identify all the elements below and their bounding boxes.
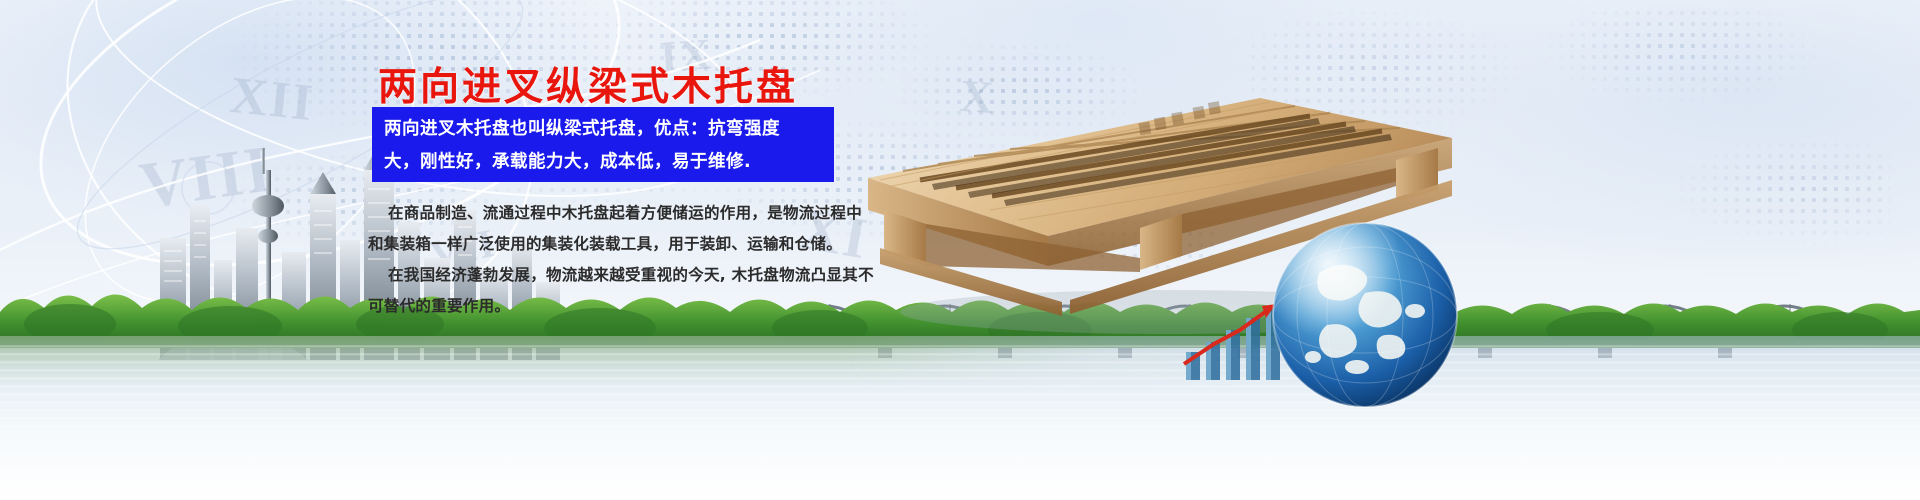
body-paragraph: 在商品制造、流通过程中木托盘起着方便储运的作用，是物流过程中 和集装箱一样广泛使… [368, 198, 848, 322]
highlight-line-1: 两向进叉木托盘也叫纵梁式托盘，优点：抗弯强度 [384, 113, 824, 146]
rising-bar-chart-with-arrow [1180, 300, 1300, 380]
highlight-line-2: 大，刚性好，承载能力大，成本低，易于维修. [384, 146, 824, 179]
body-line-2: 和集装箱一样广泛使用的集装化装载工具，用于装卸、运输和仓储。 [368, 229, 848, 260]
green-tree-band [0, 278, 1920, 348]
blue-earth-globe [1265, 215, 1465, 415]
arch-bridge-silhouette [760, 250, 1920, 360]
decorative-arc-lines [0, 0, 1920, 360]
water-reflection-band [0, 336, 1920, 500]
dot-matrix-texture-right [1250, 10, 1890, 310]
sky-gradient-glow [0, 0, 1920, 330]
water-green-tint [0, 336, 1920, 388]
body-line-1: 在商品制造、流通过程中木托盘起着方便储运的作用，是物流过程中 [368, 198, 848, 229]
highlight-callout-box: 两向进叉木托盘也叫纵梁式托盘，优点：抗弯强度 大，刚性好，承载能力大，成本低，易… [372, 107, 834, 182]
wooden-stringer-pallet-photo [840, 60, 1460, 340]
water-ripple-lines [0, 340, 1920, 430]
body-line-3: 在我国经济蓬勃发展，物流越来越受重视的今天, 木托盘物流凸显其不 [368, 260, 848, 291]
watermark-numeral-2: XII [227, 66, 317, 133]
watermark-numeral-1: VIII [135, 131, 277, 225]
product-banner: VIII XII IX XI VII X [0, 0, 1920, 500]
page-title: 两向进叉纵梁式木托盘 [378, 56, 798, 112]
watermark-numeral-6: X [958, 69, 997, 124]
body-line-4: 可替代的重要作用。 [368, 291, 848, 322]
